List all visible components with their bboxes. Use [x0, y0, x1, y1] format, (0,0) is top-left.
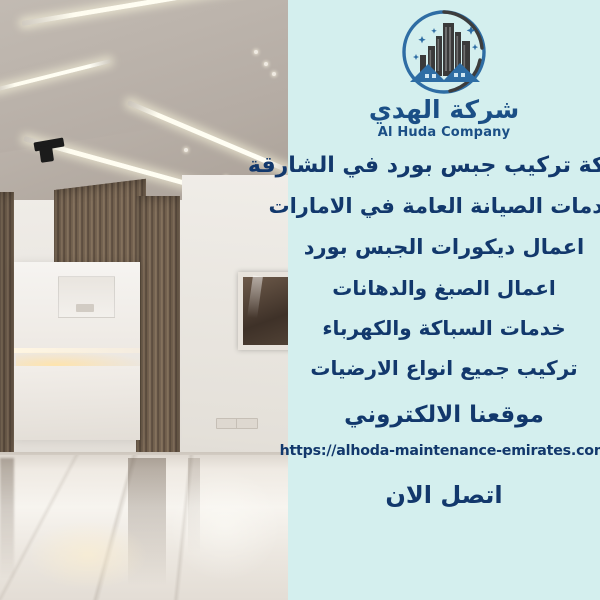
track-spotlight-head [39, 145, 54, 163]
floor-light-reflection [28, 520, 148, 590]
interior-photo [0, 0, 288, 600]
call-now-cta[interactable]: اتصل الان [385, 481, 502, 509]
wall-socket [216, 418, 238, 429]
pin-light [184, 148, 188, 152]
feature-wall-panel-lower [14, 366, 140, 440]
building-skyline-circle-logo [392, 8, 496, 96]
window [238, 272, 288, 350]
service-item: خدمات السباكة والكهرباء [322, 316, 565, 340]
service-list: شركة تركيب جبس بورد في الشارقة خدمات الص… [288, 152, 600, 428]
pin-light [254, 50, 258, 54]
wall-plate [76, 304, 94, 312]
info-panel: شركة الهدي Al Huda Company شركة تركيب جب… [288, 0, 600, 600]
service-item: اعمال الصبغ والدهانات [332, 276, 555, 300]
wall-socket [236, 418, 258, 429]
pin-light [264, 62, 268, 66]
brand-name-arabic: شركة الهدي [369, 97, 519, 122]
website-label: موقعنا الالكتروني [344, 402, 544, 428]
floor-reflection [0, 458, 14, 578]
brand-name-english: Al Huda Company [378, 125, 511, 140]
pin-light [272, 72, 276, 76]
floor-light-reflection [170, 470, 280, 580]
service-item: اعمال ديكورات الجبس بورد [304, 235, 585, 259]
promo-poster: شركة الهدي Al Huda Company شركة تركيب جب… [0, 0, 600, 600]
service-item: خدمات الصيانة العامة في الامارات [268, 194, 600, 218]
website-url[interactable]: https://alhoda-maintenance-emirates.com [280, 443, 600, 459]
service-item: شركة تركيب جبس بورد في الشارقة [248, 153, 600, 178]
company-logo: شركة الهدي Al Huda Company [369, 8, 519, 140]
service-item: تركيب جميع انواع الارضيات [310, 356, 577, 380]
